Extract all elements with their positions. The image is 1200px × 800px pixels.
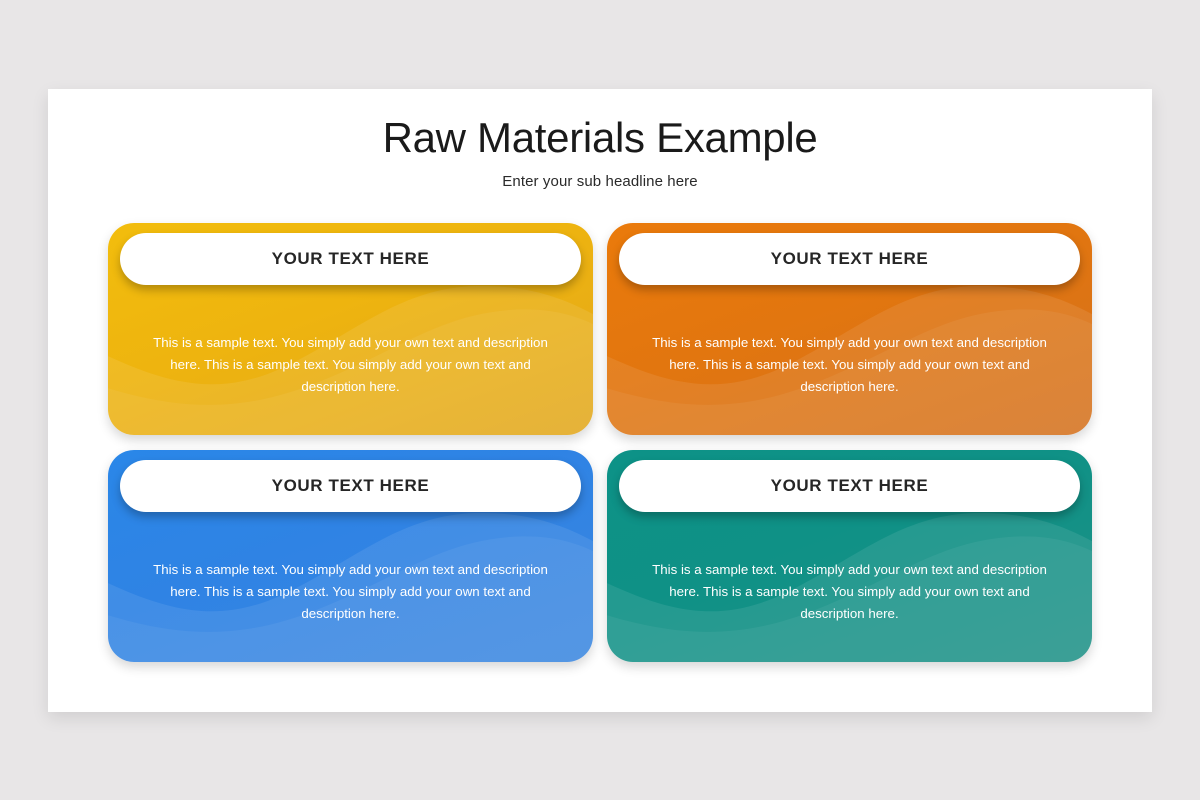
card-teal[interactable]: YOUR TEXT HERE This is a sample text. Yo… — [607, 450, 1092, 662]
cards-grid: YOUR TEXT HERE This is a sample text. Yo… — [108, 223, 1092, 662]
card-body-text: This is a sample text. You simply add yo… — [647, 332, 1052, 397]
card-blue[interactable]: YOUR TEXT HERE This is a sample text. Yo… — [108, 450, 593, 662]
slide-header: Raw Materials Example Enter your sub hea… — [48, 89, 1152, 190]
card-heading-pill[interactable]: YOUR TEXT HERE — [120, 460, 581, 512]
card-heading-label: YOUR TEXT HERE — [272, 476, 430, 496]
card-body-text: This is a sample text. You simply add yo… — [647, 559, 1052, 624]
card-yellow[interactable]: YOUR TEXT HERE This is a sample text. Yo… — [108, 223, 593, 435]
card-heading-label: YOUR TEXT HERE — [771, 476, 929, 496]
card-body-text: This is a sample text. You simply add yo… — [148, 332, 553, 397]
card-heading-pill[interactable]: YOUR TEXT HERE — [120, 233, 581, 285]
page-title: Raw Materials Example — [48, 89, 1152, 163]
card-heading-label: YOUR TEXT HERE — [272, 249, 430, 269]
page-subtitle: Enter your sub headline here — [48, 163, 1152, 190]
card-heading-pill[interactable]: YOUR TEXT HERE — [619, 460, 1080, 512]
presentation-slide: Raw Materials Example Enter your sub hea… — [48, 89, 1152, 712]
card-body-text: This is a sample text. You simply add yo… — [148, 559, 553, 624]
card-heading-label: YOUR TEXT HERE — [771, 249, 929, 269]
card-orange[interactable]: YOUR TEXT HERE This is a sample text. Yo… — [607, 223, 1092, 435]
card-heading-pill[interactable]: YOUR TEXT HERE — [619, 233, 1080, 285]
